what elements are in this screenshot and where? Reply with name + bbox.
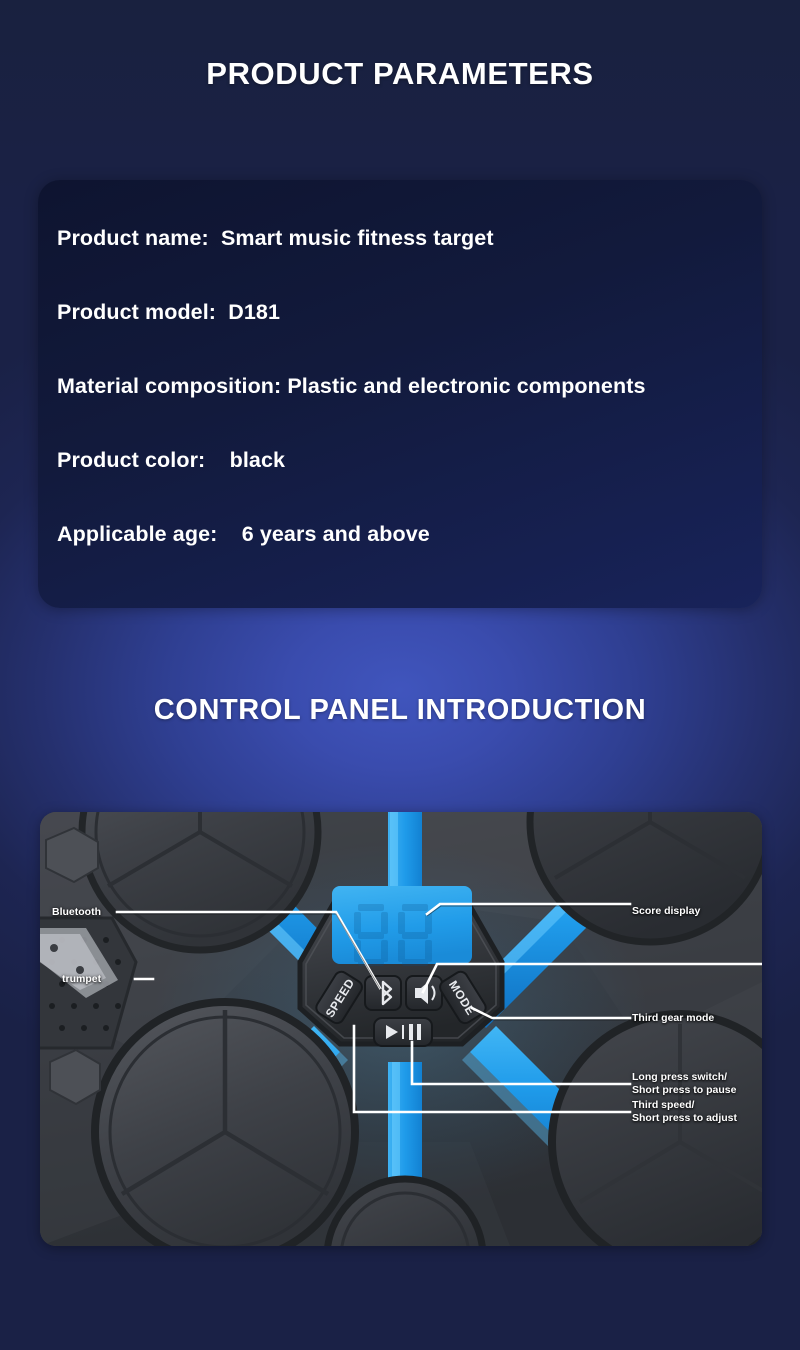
page-title-control-panel-introduction: CONTROL PANEL INTRODUCTION [0,694,800,727]
play-pause-button [374,1018,432,1046]
control-panel-hub: SPEED [300,886,502,1046]
param-row-applicable-age: Applicable age: 6 years and above [48,498,762,572]
volume-button [406,976,442,1010]
product-illustration: SPEED [40,812,762,1246]
param-row-product-model: Product model: D181 [48,276,762,350]
param-row-product-color: Product color: black [48,424,762,498]
page-title-product-parameters: PRODUCT PARAMETERS [0,56,800,92]
param-row-product-name: Product name: Smart music fitness target [48,202,762,276]
param-row-material-composition: Material composition: Plastic and electr… [48,350,762,424]
infographic-page: PRODUCT PARAMETERS Product name: Smart m… [0,0,800,1350]
control-panel-product-image: SPEED [40,812,762,1246]
bluetooth-button [365,976,401,1010]
product-parameters-card: Product name: Smart music fitness target… [38,180,762,608]
